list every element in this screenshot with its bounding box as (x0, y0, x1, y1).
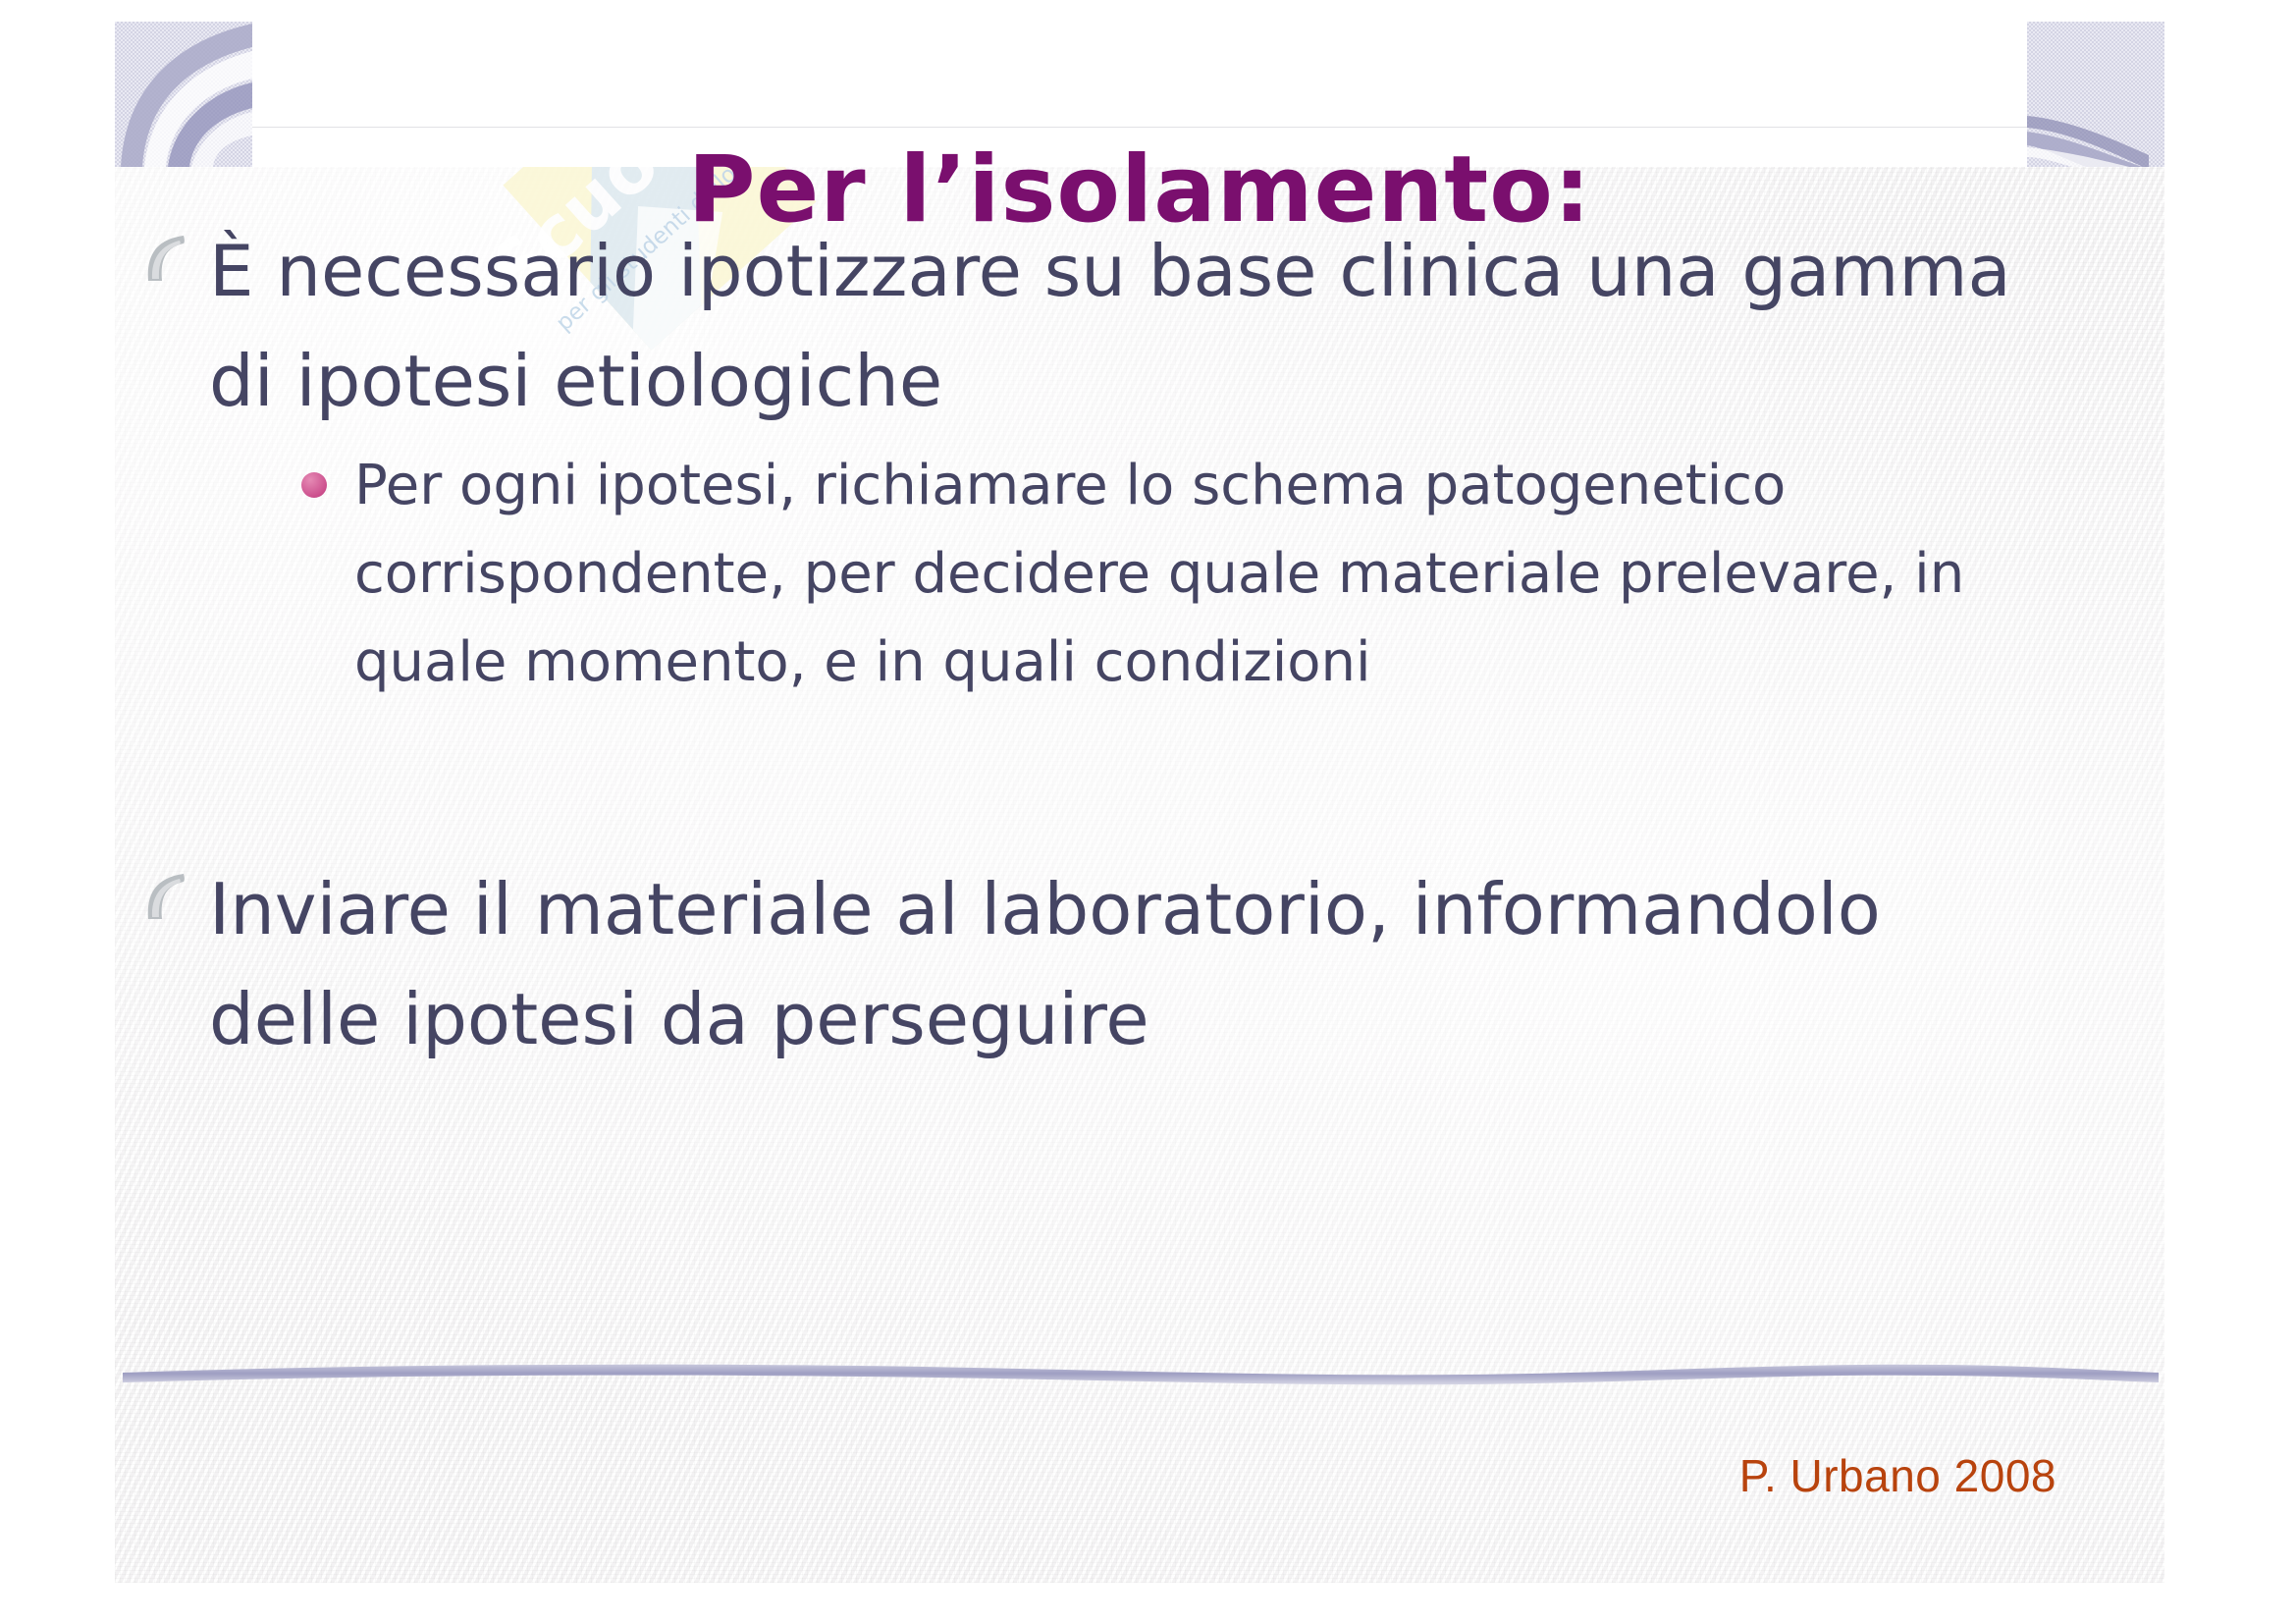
list-item: Inviare il materiale al laboratorio, inf… (144, 854, 2068, 1074)
hook-bullet-icon (144, 872, 187, 921)
hook-bullet-icon (144, 234, 187, 283)
swoosh-arc-icon (115, 22, 252, 167)
list-item-label: È necessario ipotizzare su base clinica … (209, 216, 2068, 436)
footer-credit-text: P. Urbano 2008 (1739, 1449, 2056, 1502)
presentation-slide: Scuola.it per gli studenti dello student… (115, 22, 2164, 1583)
page-title: Per l’isolamento: (115, 144, 2164, 237)
corner-swoosh-right-decoration (2027, 22, 2164, 167)
corner-swoosh-left-decoration (115, 22, 252, 167)
header-hairline-divider (115, 127, 2164, 128)
list-item-label: Per ogni ipotesi, richiamare lo schema p… (354, 442, 2098, 707)
list-item: È necessario ipotizzare su base clinica … (144, 216, 2068, 436)
swoosh-arc-icon (2027, 22, 2164, 167)
list-item-label: Inviare il materiale al laboratorio, inf… (209, 854, 2068, 1074)
wave-divider-decoration (115, 1351, 2164, 1390)
list-item: Per ogni ipotesi, richiamare lo schema p… (301, 442, 2098, 707)
round-dot-bullet-icon (301, 472, 327, 498)
